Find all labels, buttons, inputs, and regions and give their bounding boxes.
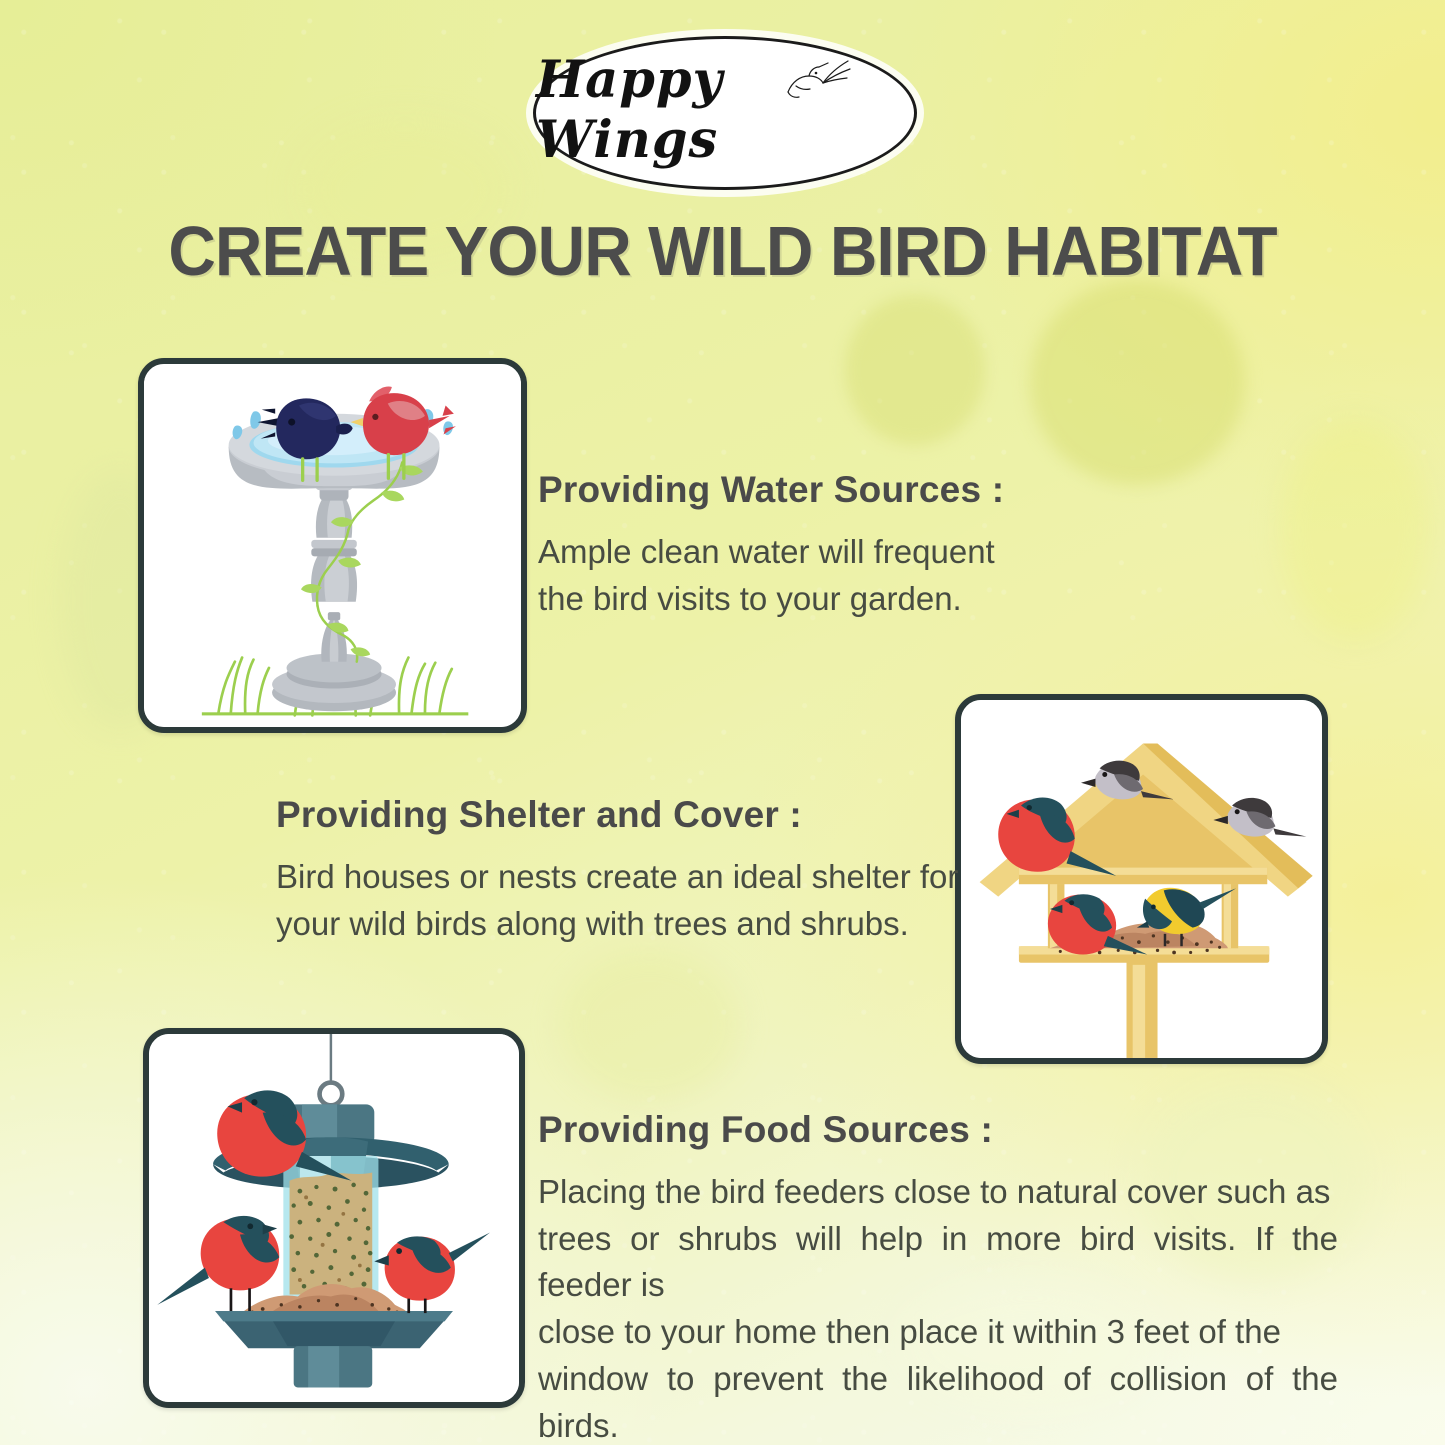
hummingbird-icon xyxy=(776,52,854,108)
body-line: window to prevent the likelihood of coll… xyxy=(538,1356,1338,1445)
watercolor-blotch xyxy=(845,295,985,445)
body-line: your wild birds along with trees and shr… xyxy=(276,901,966,948)
section-body-food: Placing the bird feeders close to natura… xyxy=(538,1169,1338,1445)
bird-bath-illustration-card xyxy=(138,358,527,733)
body-line: close to your home then place it within … xyxy=(538,1309,1338,1356)
great-tit-leg xyxy=(1164,934,1166,946)
body-line: trees or shrubs will help in more bird v… xyxy=(538,1216,1338,1310)
section-text-shelter: Providing Shelter and Cover : Bird house… xyxy=(276,795,966,947)
watercolor-blotch xyxy=(1030,280,1245,485)
body-line: Placing the bird feeders close to natura… xyxy=(538,1169,1338,1216)
body-line: Ample clean water will frequent xyxy=(538,529,1058,576)
body-line: Bird houses or nests create an ideal she… xyxy=(276,854,966,901)
bullfinch-leg xyxy=(230,1288,233,1311)
bird-house-feeder-illustration xyxy=(961,700,1322,1058)
bird-bath-illustration xyxy=(144,364,521,727)
brand-logo: Happy Wings xyxy=(533,36,917,190)
section-heading-water: Providing Water Sources : xyxy=(538,470,1058,511)
bird-house-illustration-card xyxy=(955,694,1328,1064)
ground-line xyxy=(202,712,468,715)
section-heading-shelter: Providing Shelter and Cover : xyxy=(276,795,966,836)
body-line: the bird visits to your garden. xyxy=(538,576,1058,623)
section-body-water: Ample clean water will frequent the bird… xyxy=(538,529,1058,623)
infographic-poster: Happy Wings CREATE YOUR WILD BIRD HABITA… xyxy=(0,0,1445,1445)
brand-name: Happy Wings xyxy=(536,39,914,187)
page-title: CREATE YOUR WILD BIRD HABITAT xyxy=(43,216,1401,286)
watercolor-blotch xyxy=(560,950,740,1100)
watercolor-blotch xyxy=(1280,420,1430,640)
section-heading-food: Providing Food Sources : xyxy=(538,1110,1338,1151)
navy-bird-leg xyxy=(301,457,304,482)
hanging-tube-feeder-illustration xyxy=(149,1034,519,1402)
red-bird-leg xyxy=(387,453,390,480)
section-text-food: Providing Food Sources : Placing the bir… xyxy=(538,1110,1338,1445)
section-text-water: Providing Water Sources : Ample clean wa… xyxy=(538,470,1058,622)
section-body-shelter: Bird houses or nests create an ideal she… xyxy=(276,854,966,948)
hanging-feeder-illustration-card xyxy=(143,1028,525,1408)
